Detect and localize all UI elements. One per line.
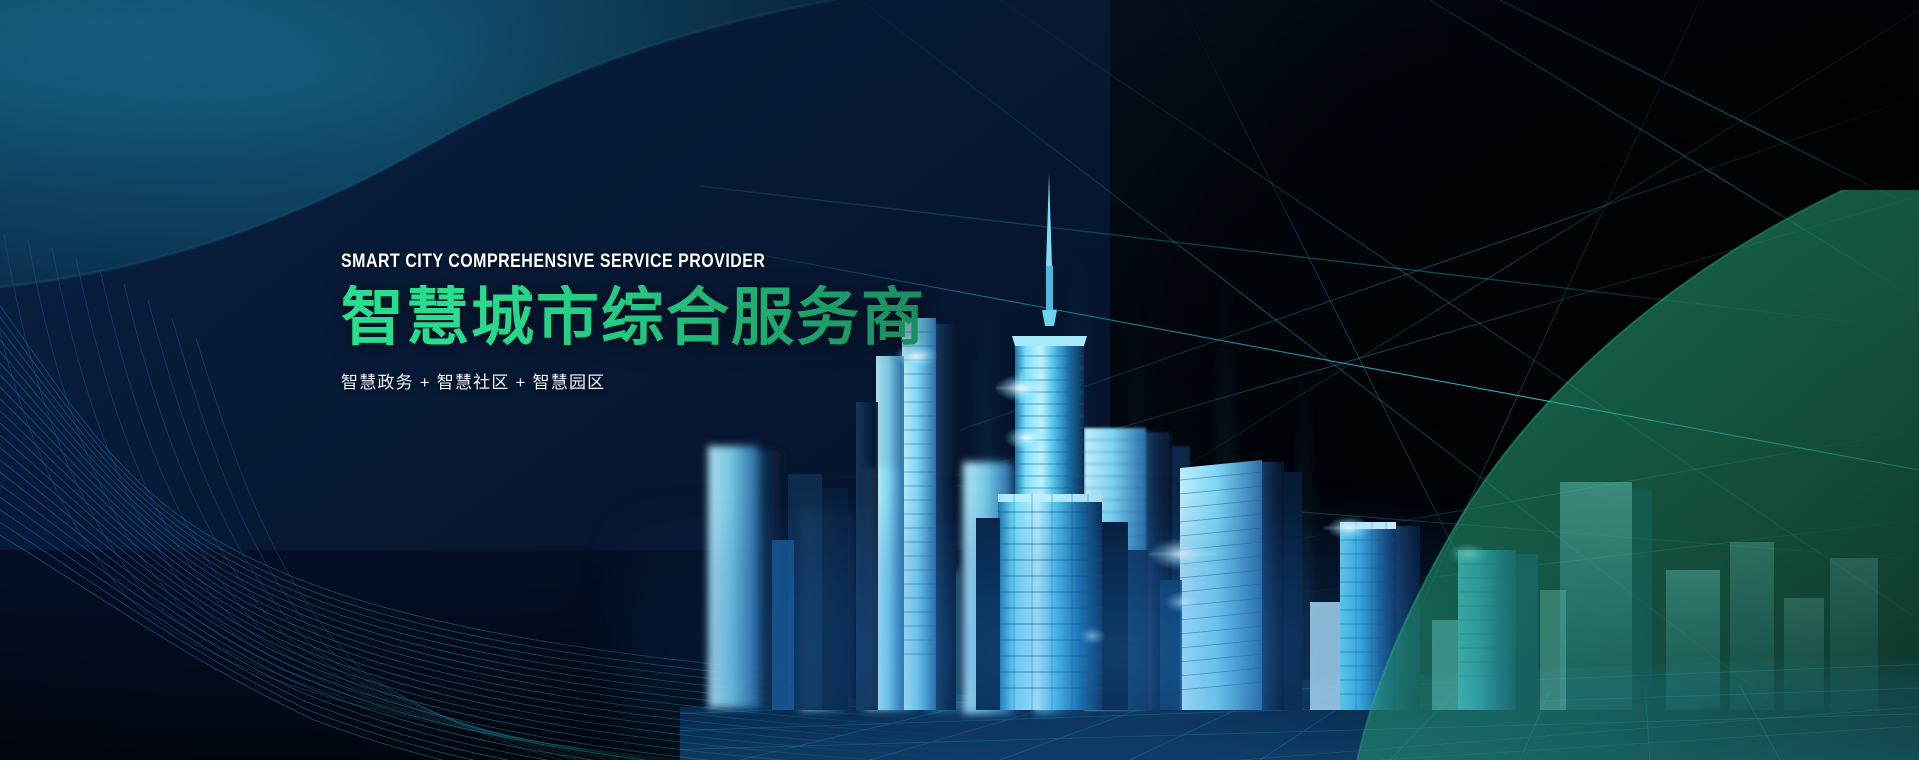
hero-banner: SMART CITY COMPREHENSIVE SERVICE PROVIDE…	[0, 0, 1919, 760]
hero-subline: 智慧政务 + 智慧社区 + 智慧园区	[341, 368, 1101, 393]
hero-headline: 智慧城市综合服务商	[341, 285, 1101, 352]
green-wave-overlay	[1179, 190, 1919, 760]
hero-eyebrow-text: SMART CITY COMPREHENSIVE SERVICE PROVIDE…	[341, 252, 979, 271]
hero-copy-block: SMART CITY COMPREHENSIVE SERVICE PROVIDE…	[341, 252, 1101, 393]
